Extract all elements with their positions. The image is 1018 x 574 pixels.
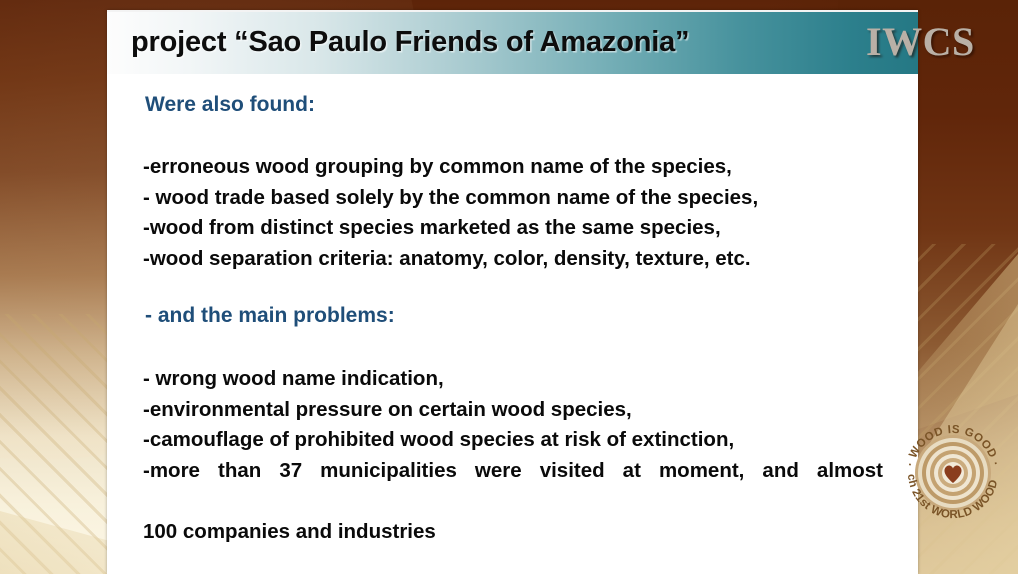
slide-canvas: project “Sao Paulo Friends of Amazonia” … <box>107 10 918 574</box>
iwcs-wordmark: IWCS <box>866 18 975 65</box>
slide-body: Were also found: -erroneous wood groupin… <box>107 72 918 574</box>
list-item: -wood separation criteria: anatomy, colo… <box>143 244 883 275</box>
list-item: - wrong wood name indication, <box>143 364 883 395</box>
world-wood-day-seal: · WOOD IS GOOD · March 21st WORLD WOOD D… <box>897 417 1009 529</box>
list-item-justified: -more than 37 municipalities were visite… <box>143 456 883 517</box>
list-item: -camouflage of prohibited wood species a… <box>143 425 883 456</box>
list-item: -erroneous wood grouping by common name … <box>143 152 883 183</box>
bullet-list-main-problems: - wrong wood name indication, -environme… <box>143 364 883 547</box>
slide-header-band: project “Sao Paulo Friends of Amazonia” <box>107 10 918 74</box>
presentation-stage: project “Sao Paulo Friends of Amazonia” … <box>0 0 1018 574</box>
list-item: -wood from distinct species marketed as … <box>143 213 883 244</box>
list-item-line-1: -more than 37 municipalities were visite… <box>143 459 883 482</box>
bullet-list-were-also-found: -erroneous wood grouping by common name … <box>143 152 883 274</box>
section-heading-were-also-found: Were also found: <box>145 93 315 117</box>
list-item: - wood trade based solely by the common … <box>143 183 883 214</box>
list-item: -environmental pressure on certain wood … <box>143 395 883 426</box>
section-heading-main-problems: - and the main problems: <box>145 304 395 328</box>
page-title: project “Sao Paulo Friends of Amazonia” <box>131 26 689 59</box>
list-item-line-2: 100 companies and industries <box>143 517 883 548</box>
